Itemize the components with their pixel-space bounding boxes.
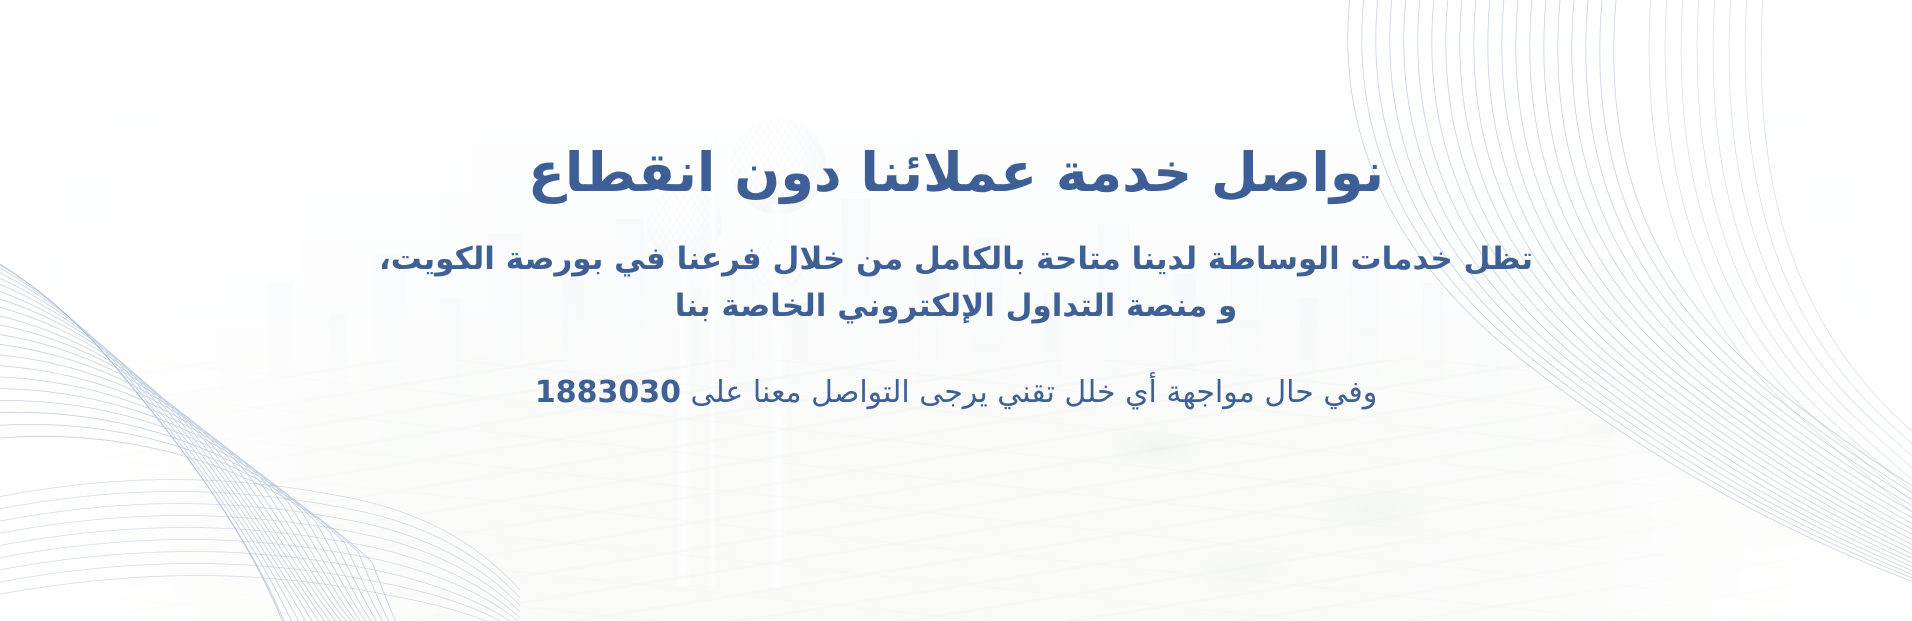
- body-line-2: التداول الإلكتروني الخاصة بنا: [675, 288, 1116, 324]
- hero-banner: نواصل خدمة عملائنا دون انقطاع تظل خدمات …: [0, 0, 1912, 621]
- contact-line: وفي حال مواجهة أي خلل تقني يرجى التواصل …: [535, 330, 1377, 415]
- banner-content: نواصل خدمة عملائنا دون انقطاع تظل خدمات …: [0, 0, 1912, 621]
- body-paragraph: تظل خدمات الوساطة لدينا متاحة بالكامل من…: [366, 204, 1546, 330]
- contact-phone-number[interactable]: 1883030: [535, 370, 681, 415]
- contact-prefix-text: وفي حال مواجهة أي خلل تقني يرجى التواصل …: [691, 375, 1378, 410]
- page-title: نواصل خدمة عملائنا دون انقطاع: [528, 0, 1384, 204]
